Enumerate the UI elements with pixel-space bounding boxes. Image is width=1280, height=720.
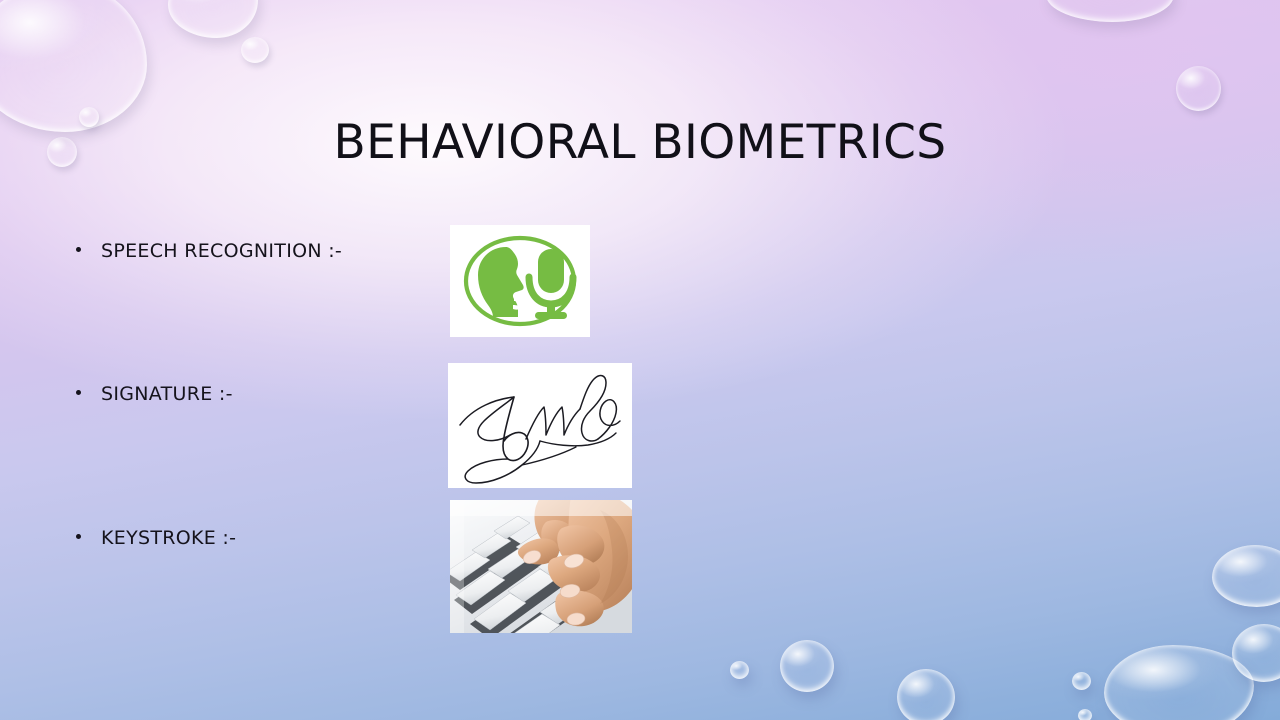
- keystroke-image: [450, 500, 632, 633]
- droplet-top-left-medium: [168, 0, 258, 38]
- droplet-bottom-tiny: [730, 661, 749, 679]
- droplet-right-edge-lower: [1232, 624, 1280, 682]
- droplet-top-right-large: [1046, 0, 1174, 22]
- bullet-item-speech-recognition: SPEECH RECOGNITION :-: [76, 240, 342, 262]
- signature-image: [448, 363, 632, 488]
- keystroke-photo-content: [450, 500, 632, 633]
- droplet-bottom-medium: [780, 640, 834, 692]
- chin-notch-icon: [513, 305, 523, 310]
- bullet-dot-icon: [76, 534, 81, 539]
- speech-recognition-image: [450, 225, 590, 337]
- signature-illustration: [448, 363, 632, 488]
- droplet-bottom-right-tiny-upper: [1072, 672, 1091, 690]
- speech-recognition-icon: [450, 225, 590, 337]
- droplet-right-edge-upper: [1212, 545, 1280, 607]
- signature-stroke-7: [540, 433, 616, 446]
- signature-stroke-4: [526, 407, 580, 439]
- keystroke-photo: [450, 500, 632, 633]
- bullet-label-signature: SIGNATURE :-: [101, 383, 233, 405]
- signature-stroke-1: [460, 397, 514, 441]
- bullet-item-signature: SIGNATURE :-: [76, 383, 233, 405]
- signature-stroke-2: [503, 397, 528, 461]
- droplet-bottom-center: [897, 669, 955, 720]
- signature-stroke-5: [580, 376, 606, 441]
- microphone-capsule-icon: [538, 249, 564, 293]
- droplet-bottom-right-large: [1104, 645, 1254, 720]
- bullet-label-speech-recognition: SPEECH RECOGNITION :-: [101, 240, 342, 262]
- mouth-icon: [514, 296, 525, 301]
- slide-title: BEHAVIORAL BIOMETRICS: [0, 118, 1280, 167]
- bullet-dot-icon: [76, 390, 81, 395]
- bullet-item-keystroke: KEYSTROKE :-: [76, 527, 236, 549]
- microphone-base-icon: [535, 312, 567, 319]
- bullet-label-keystroke: KEYSTROKE :-: [101, 527, 236, 549]
- presentation-slide: BEHAVIORAL BIOMETRICS SPEECH RECOGNITION…: [0, 0, 1280, 720]
- bullet-dot-icon: [76, 247, 81, 252]
- droplet-top-right-small: [1176, 66, 1221, 111]
- droplet-top-center: [241, 37, 269, 63]
- droplet-bottom-right-tiny-lower: [1078, 709, 1092, 720]
- signature-stroke-6: [598, 400, 620, 439]
- droplet-top-left-large: [0, 0, 147, 132]
- signature-stroke-8: [522, 447, 576, 465]
